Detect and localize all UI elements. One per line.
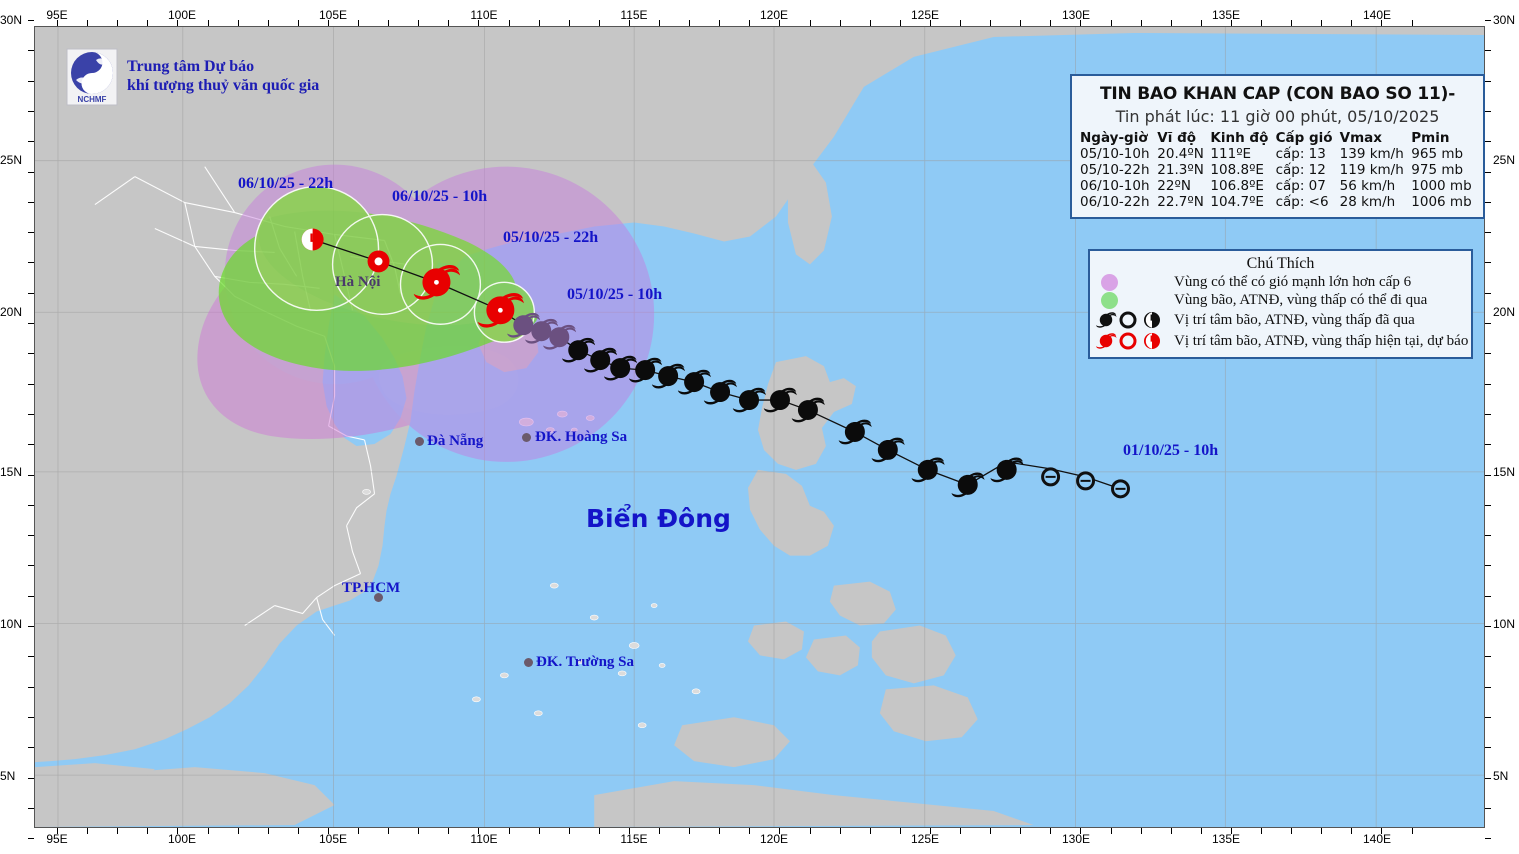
axis-x-label-bottom: 115E <box>620 832 647 846</box>
axis-x-tick-bottom <box>840 828 841 834</box>
forecast-table-row: 06/10-22h22.7ºN104.7ºEcấp: <628 km/h1006… <box>1078 194 1477 210</box>
legend-title: Chú Thích <box>1096 255 1465 273</box>
axis-x-tick <box>1201 20 1202 26</box>
axis-x-tick-bottom <box>1321 828 1322 834</box>
axis-x-tick-bottom <box>1111 828 1112 834</box>
axis-x-tick-bottom <box>358 828 359 834</box>
axis-y-tick <box>28 111 34 112</box>
bulletin-title: TIN BAO KHAN CAP (CON BAO SO 11)- <box>1078 84 1477 104</box>
axis-x-tick <box>208 20 209 26</box>
forecast-cell: 139 km/h <box>1338 146 1410 162</box>
forecast-cell: cấp: 13 <box>1274 146 1338 162</box>
city-dot-icon <box>522 433 531 442</box>
axis-x-tick <box>448 20 449 26</box>
axis-y-label-right: 30N <box>1493 13 1515 27</box>
axis-x-tick <box>238 20 239 26</box>
forecast-cell: 119 km/h <box>1338 162 1410 178</box>
axis-x-tick-bottom <box>1020 828 1021 834</box>
axis-x-label: 125E <box>911 8 939 22</box>
axis-y-tick <box>28 747 34 748</box>
axis-x-tick-bottom <box>1231 828 1232 834</box>
axis-y-tick <box>28 838 34 839</box>
legend-item: Vùng bão, ATNĐ, vùng thấp có thể đi qua <box>1096 292 1465 309</box>
city-label: ĐK. Hoàng Sa <box>535 429 627 446</box>
axis-x-label: 120E <box>760 8 788 22</box>
axis-x-tick <box>478 20 479 26</box>
axis-x-tick <box>1381 20 1382 26</box>
axis-x-tick <box>960 20 961 26</box>
axis-x-tick <box>358 20 359 26</box>
axis-x-tick <box>719 20 720 26</box>
axis-x-tick <box>930 20 931 26</box>
axis-x-tick-bottom <box>1080 828 1081 834</box>
axis-y-tick-right <box>1485 535 1491 536</box>
axis-bottom: 95E100E105E110E115E120E125E130E135E140E <box>0 828 1519 854</box>
axis-x-tick-bottom <box>1291 828 1292 834</box>
forecast-col-header: Pmin <box>1409 130 1477 146</box>
axis-y-tick-right <box>1485 687 1491 688</box>
sea-name-label: Biển Đông <box>586 504 731 533</box>
axis-x-tick <box>629 20 630 26</box>
forecast-cell: 965 mb <box>1409 146 1477 162</box>
axis-x-tick-bottom <box>328 828 329 834</box>
axis-x-label-bottom: 125E <box>911 832 939 846</box>
axis-x-tick <box>1050 20 1051 26</box>
axis-x-tick <box>1261 20 1262 26</box>
axis-y-tick <box>28 717 34 718</box>
track-marker-open <box>1113 481 1129 497</box>
forecast-table-header: Ngày-giờVĩ độKinh độCấp gióVmaxPmin <box>1078 130 1477 146</box>
axis-y-tick <box>28 353 34 354</box>
legend-item-label: Vùng bão, ATNĐ, vùng thấp có thể đi qua <box>1174 292 1427 309</box>
axis-x-label-bottom: 110E <box>470 832 497 846</box>
axis-y-tick-right <box>1485 202 1491 203</box>
axis-x-label-bottom: 120E <box>760 832 788 846</box>
typhoon-map-page: 06/10/25 - 22h06/10/25 - 10h05/10/25 - 2… <box>0 0 1519 854</box>
axis-x-tick-bottom <box>1171 828 1172 834</box>
axis-x-tick-bottom <box>268 828 269 834</box>
axis-x-tick <box>1080 20 1081 26</box>
axis-y-tick-right <box>1485 414 1491 415</box>
forecast-cell: 106.8ºE <box>1208 178 1273 194</box>
forecast-time-label: 05/10/25 - 22h <box>503 229 598 247</box>
axis-y-tick <box>28 535 34 536</box>
axis-x-label-bottom: 95E <box>46 832 67 846</box>
forecast-cell: 1006 mb <box>1409 194 1477 210</box>
axis-x-tick-bottom <box>659 828 660 834</box>
axis-x-tick-bottom <box>689 828 690 834</box>
axis-x-tick <box>177 20 178 26</box>
axis-x-label: 130E <box>1062 8 1090 22</box>
forecast-time-label: 01/10/25 - 10h <box>1123 442 1218 460</box>
axis-y-tick-right <box>1485 444 1491 445</box>
axis-y-tick <box>28 262 34 263</box>
axis-y-tick-right <box>1485 111 1491 112</box>
forecast-cell: 22.7ºN <box>1155 194 1208 210</box>
track-marker-open <box>1043 469 1059 485</box>
axis-y-tick <box>28 656 34 657</box>
axis-x-tick <box>990 20 991 26</box>
axis-x-tick-bottom <box>388 828 389 834</box>
axis-y-label: 25N <box>0 153 22 167</box>
axis-y-tick <box>28 475 34 476</box>
axis-x-tick-bottom <box>629 828 630 834</box>
axis-x-tick <box>1321 20 1322 26</box>
axis-x-tick-bottom <box>147 828 148 834</box>
forecast-col-header: Cấp gió <box>1274 130 1338 146</box>
axis-y-tick-right <box>1485 353 1491 354</box>
forecast-table-row: 05/10-22h21.3ºN108.8ºEcấp: 12119 km/h975… <box>1078 162 1477 178</box>
axis-x-tick-bottom <box>599 828 600 834</box>
track-marker-open <box>1078 473 1094 489</box>
axis-x-label-bottom: 135E <box>1212 832 1240 846</box>
axis-y-tick <box>28 81 34 82</box>
axis-x-tick <box>268 20 269 26</box>
axis-x-label: 110E <box>470 8 497 22</box>
axis-x-label: 135E <box>1212 8 1240 22</box>
axis-x-tick-bottom <box>509 828 510 834</box>
axis-x-tick-bottom <box>779 828 780 834</box>
axis-x-tick-bottom <box>1141 828 1142 834</box>
axis-x-tick <box>810 20 811 26</box>
axis-y-label-right: 25N <box>1493 153 1515 167</box>
axis-x-tick-bottom <box>208 828 209 834</box>
axis-y-tick-right <box>1485 50 1491 51</box>
forecast-cell: 1000 mb <box>1409 178 1477 194</box>
forecast-time-label: 06/10/25 - 10h <box>392 188 487 206</box>
axis-y-tick <box>28 293 34 294</box>
forecast-marker-depression[interactable] <box>368 250 390 272</box>
axis-x-tick-bottom <box>900 828 901 834</box>
axis-x-tick-bottom <box>719 828 720 834</box>
axis-y-tick <box>28 565 34 566</box>
legend-panel: Chú Thích Vùng có thể có gió mạnh lớn hơ… <box>1088 249 1473 359</box>
axis-x-tick-bottom <box>569 828 570 834</box>
axis-y-tick-right <box>1485 20 1491 21</box>
purple-zone-swatch-icon <box>1101 274 1118 291</box>
axis-x-tick <box>900 20 901 26</box>
storm-symbol-triad-icon <box>1096 310 1164 330</box>
axis-y-tick <box>28 687 34 688</box>
city-dot-icon <box>415 437 424 446</box>
legend-symbol-red-storm-triad <box>1096 331 1166 351</box>
forecast-marker-low[interactable] <box>302 228 324 250</box>
axis-x-tick <box>840 20 841 26</box>
axis-x-tick-bottom <box>1201 828 1202 834</box>
forecast-time-label: 06/10/25 - 22h <box>238 175 333 193</box>
forecast-time-label: 05/10/25 - 10h <box>567 286 662 304</box>
axis-y-tick <box>28 596 34 597</box>
forecast-table: Ngày-giờVĩ độKinh độCấp gióVmaxPmin 05/1… <box>1078 130 1477 210</box>
legend-symbol-green-circle <box>1096 292 1166 309</box>
legend-item-label: Vị trí tâm bão, ATNĐ, vùng thấp đã qua <box>1174 312 1415 329</box>
forecast-cell: 104.7ºE <box>1208 194 1273 210</box>
green-zone-swatch-icon <box>1101 292 1118 309</box>
axis-y-label-right: 10N <box>1493 617 1515 631</box>
axis-y-label: 5N <box>0 769 15 783</box>
forecast-col-header: Vmax <box>1338 130 1410 146</box>
axis-y-tick-right <box>1485 565 1491 566</box>
forecast-cell: cấp: 12 <box>1274 162 1338 178</box>
axis-x-tick-bottom <box>298 828 299 834</box>
axis-x-tick <box>1020 20 1021 26</box>
axis-x-label-bottom: 130E <box>1062 832 1090 846</box>
axis-x-tick <box>388 20 389 26</box>
axis-x-label-bottom: 105E <box>319 832 347 846</box>
axis-x-label: 115E <box>620 8 647 22</box>
axis-y-tick <box>28 232 34 233</box>
axis-x-tick <box>298 20 299 26</box>
nchmf-logo-icon: NCHMF <box>66 48 118 106</box>
axis-x-tick <box>1171 20 1172 26</box>
low-symbol-icon <box>1144 312 1160 328</box>
axis-y-label: 20N <box>0 305 22 319</box>
axis-x-tick <box>1291 20 1292 26</box>
axis-x-tick <box>1351 20 1352 26</box>
axis-x-label: 140E <box>1363 8 1391 22</box>
axis-x-tick-bottom <box>1412 828 1413 834</box>
axis-x-label-bottom: 140E <box>1363 832 1391 846</box>
axis-x-tick-bottom <box>478 828 479 834</box>
axis-top: 95E100E105E110E115E120E125E130E135E140E <box>0 0 1519 26</box>
axis-y-tick-right <box>1485 656 1491 657</box>
legend-item-label: Vùng có thể có gió mạnh lớn hơn cấp 6 <box>1174 274 1411 291</box>
axis-y-tick-right <box>1485 323 1491 324</box>
axis-x-tick <box>87 20 88 26</box>
city-label: Hà Nội <box>335 274 380 291</box>
axis-y-tick-right <box>1485 262 1491 263</box>
axis-x-tick-bottom <box>960 828 961 834</box>
axis-x-label-bottom: 100E <box>168 832 196 846</box>
axis-x-tick <box>779 20 780 26</box>
axis-x-tick-bottom <box>238 828 239 834</box>
axis-y-label: 30N <box>0 13 22 27</box>
legend-symbol-purple-circle <box>1096 274 1166 291</box>
legend-item: Vị trí tâm bão, ATNĐ, vùng thấp hiện tại… <box>1096 331 1465 351</box>
axis-y-tick-right <box>1485 778 1491 779</box>
axis-x-tick-bottom <box>870 828 871 834</box>
axis-y-tick <box>28 20 34 21</box>
axis-y-tick-right <box>1485 81 1491 82</box>
forecast-cell: 05/10-22h <box>1078 162 1155 178</box>
legend-item: Vị trí tâm bão, ATNĐ, vùng thấp đã qua <box>1096 310 1465 330</box>
axis-y-tick-right <box>1485 808 1491 809</box>
axis-x-tick <box>117 20 118 26</box>
axis-y-tick-right <box>1485 384 1491 385</box>
axis-y-tick-right <box>1485 172 1491 173</box>
axis-x-tick-bottom <box>448 828 449 834</box>
axis-y-tick-right <box>1485 232 1491 233</box>
bulletin-issue-time: Tin phát lúc: 11 giờ 00 phút, 05/10/2025 <box>1078 107 1477 126</box>
axis-y-tick <box>28 384 34 385</box>
depression-symbol-icon <box>1121 334 1135 348</box>
axis-x-tick <box>749 20 750 26</box>
forecast-cell: 22ºN <box>1155 178 1208 194</box>
axis-y-label-right: 5N <box>1493 769 1508 783</box>
axis-x-tick <box>659 20 660 26</box>
axis-x-tick-bottom <box>1381 828 1382 834</box>
forecast-cell: 108.8ºE <box>1208 162 1273 178</box>
axis-x-tick-bottom <box>1351 828 1352 834</box>
axis-x-tick-bottom <box>177 828 178 834</box>
axis-y-tick <box>28 172 34 173</box>
legend-symbol-black-storm-triad <box>1096 310 1166 330</box>
forecast-col-header: Vĩ độ <box>1155 130 1208 146</box>
forecast-cell: 06/10-22h <box>1078 194 1155 210</box>
axis-x-label: 105E <box>319 8 347 22</box>
forecast-cell: 05/10-10h <box>1078 146 1155 162</box>
axis-x-tick <box>57 20 58 26</box>
axis-x-tick-bottom <box>990 828 991 834</box>
nchmf-logo-text: NCHMF <box>78 95 107 104</box>
axis-y-tick <box>28 50 34 51</box>
axis-y-tick-right <box>1485 293 1491 294</box>
city-label: TP.HCM <box>342 580 400 597</box>
axis-x-tick-bottom <box>117 828 118 834</box>
axis-x-tick-bottom <box>749 828 750 834</box>
legend-item: Vùng có thể có gió mạnh lớn hơn cấp 6 <box>1096 274 1465 291</box>
axis-x-tick <box>689 20 690 26</box>
axis-x-tick-bottom <box>1261 828 1262 834</box>
forecast-table-row: 06/10-10h22ºN106.8ºEcấp: 0756 km/h1000 m… <box>1078 178 1477 194</box>
axis-y-tick-right <box>1485 747 1491 748</box>
city-dot-icon <box>524 658 533 667</box>
axis-y-tick-right <box>1485 838 1491 839</box>
axis-y-tick-right <box>1485 475 1491 476</box>
axis-y-tick <box>28 778 34 779</box>
axis-y-tick-right <box>1485 717 1491 718</box>
city-label: Đà Nẵng <box>427 433 483 450</box>
axis-y-tick-right <box>1485 505 1491 506</box>
axis-x-tick-bottom <box>87 828 88 834</box>
axis-y-label-right: 20N <box>1493 305 1515 319</box>
axis-y-tick <box>28 626 34 627</box>
axis-x-tick <box>569 20 570 26</box>
axis-x-tick-bottom <box>418 828 419 834</box>
axis-x-tick <box>1141 20 1142 26</box>
forecast-cell: 56 km/h <box>1338 178 1410 194</box>
axis-x-tick <box>328 20 329 26</box>
forecast-cell: 111ºE <box>1208 146 1273 162</box>
forecast-col-header: Kinh độ <box>1208 130 1273 146</box>
nchmf-brand: NCHMF Trung tâm Dự báo khí tượng thuỷ vă… <box>66 48 319 106</box>
brand-line-1: Trung tâm Dự báo <box>127 58 319 77</box>
forecast-cell: 20.4ºN <box>1155 146 1208 162</box>
axis-right: 30N25N20N15N10N5N <box>1485 0 1519 854</box>
axis-x-tick-bottom <box>1050 828 1051 834</box>
axis-y-tick <box>28 444 34 445</box>
storm-bulletin-panel: TIN BAO KHAN CAP (CON BAO SO 11)- Tin ph… <box>1070 74 1485 219</box>
axis-x-tick <box>599 20 600 26</box>
forecast-col-header: Ngày-giờ <box>1078 130 1155 146</box>
forecast-cell: 06/10-10h <box>1078 178 1155 194</box>
forecast-cell: 975 mb <box>1409 162 1477 178</box>
axis-y-label: 10N <box>0 617 22 631</box>
axis-x-tick <box>870 20 871 26</box>
axis-x-tick <box>418 20 419 26</box>
city-dot-icon <box>374 593 383 602</box>
axis-y-tick <box>28 323 34 324</box>
depression-symbol-icon <box>1121 313 1135 327</box>
axis-y-tick <box>28 414 34 415</box>
forecast-table-row: 05/10-10h20.4ºN111ºEcấp: 13139 km/h965 m… <box>1078 146 1477 162</box>
low-symbol-icon <box>1144 333 1160 349</box>
axis-x-tick <box>539 20 540 26</box>
axis-y-tick-right <box>1485 141 1491 142</box>
axis-left: 30N25N20N15N10N5N <box>0 0 34 854</box>
forecast-cell: 21.3ºN <box>1155 162 1208 178</box>
axis-x-tick-bottom <box>539 828 540 834</box>
axis-x-tick-bottom <box>930 828 931 834</box>
axis-x-label: 100E <box>168 8 196 22</box>
axis-y-label-right: 15N <box>1493 465 1515 479</box>
axis-x-tick <box>1111 20 1112 26</box>
axis-x-tick <box>1231 20 1232 26</box>
axis-x-tick <box>1412 20 1413 26</box>
forecast-cell: cấp: 07 <box>1274 178 1338 194</box>
axis-y-label: 15N <box>0 465 22 479</box>
forecast-cell: 28 km/h <box>1338 194 1410 210</box>
axis-x-tick-bottom <box>57 828 58 834</box>
forecast-cell: cấp: <6 <box>1274 194 1338 210</box>
axis-y-tick <box>28 202 34 203</box>
axis-y-tick <box>28 141 34 142</box>
legend-item-label: Vị trí tâm bão, ATNĐ, vùng thấp hiện tại… <box>1174 333 1468 350</box>
axis-y-tick <box>28 505 34 506</box>
axis-y-tick-right <box>1485 596 1491 597</box>
axis-x-tick <box>147 20 148 26</box>
city-label: ĐK. Trường Sa <box>536 654 634 671</box>
brand-line-2: khí tượng thuỷ văn quốc gia <box>127 77 319 96</box>
axis-x-tick <box>509 20 510 26</box>
axis-x-tick-bottom <box>810 828 811 834</box>
storm-symbol-triad-icon <box>1096 331 1164 351</box>
axis-y-tick-right <box>1485 626 1491 627</box>
axis-y-tick <box>28 808 34 809</box>
